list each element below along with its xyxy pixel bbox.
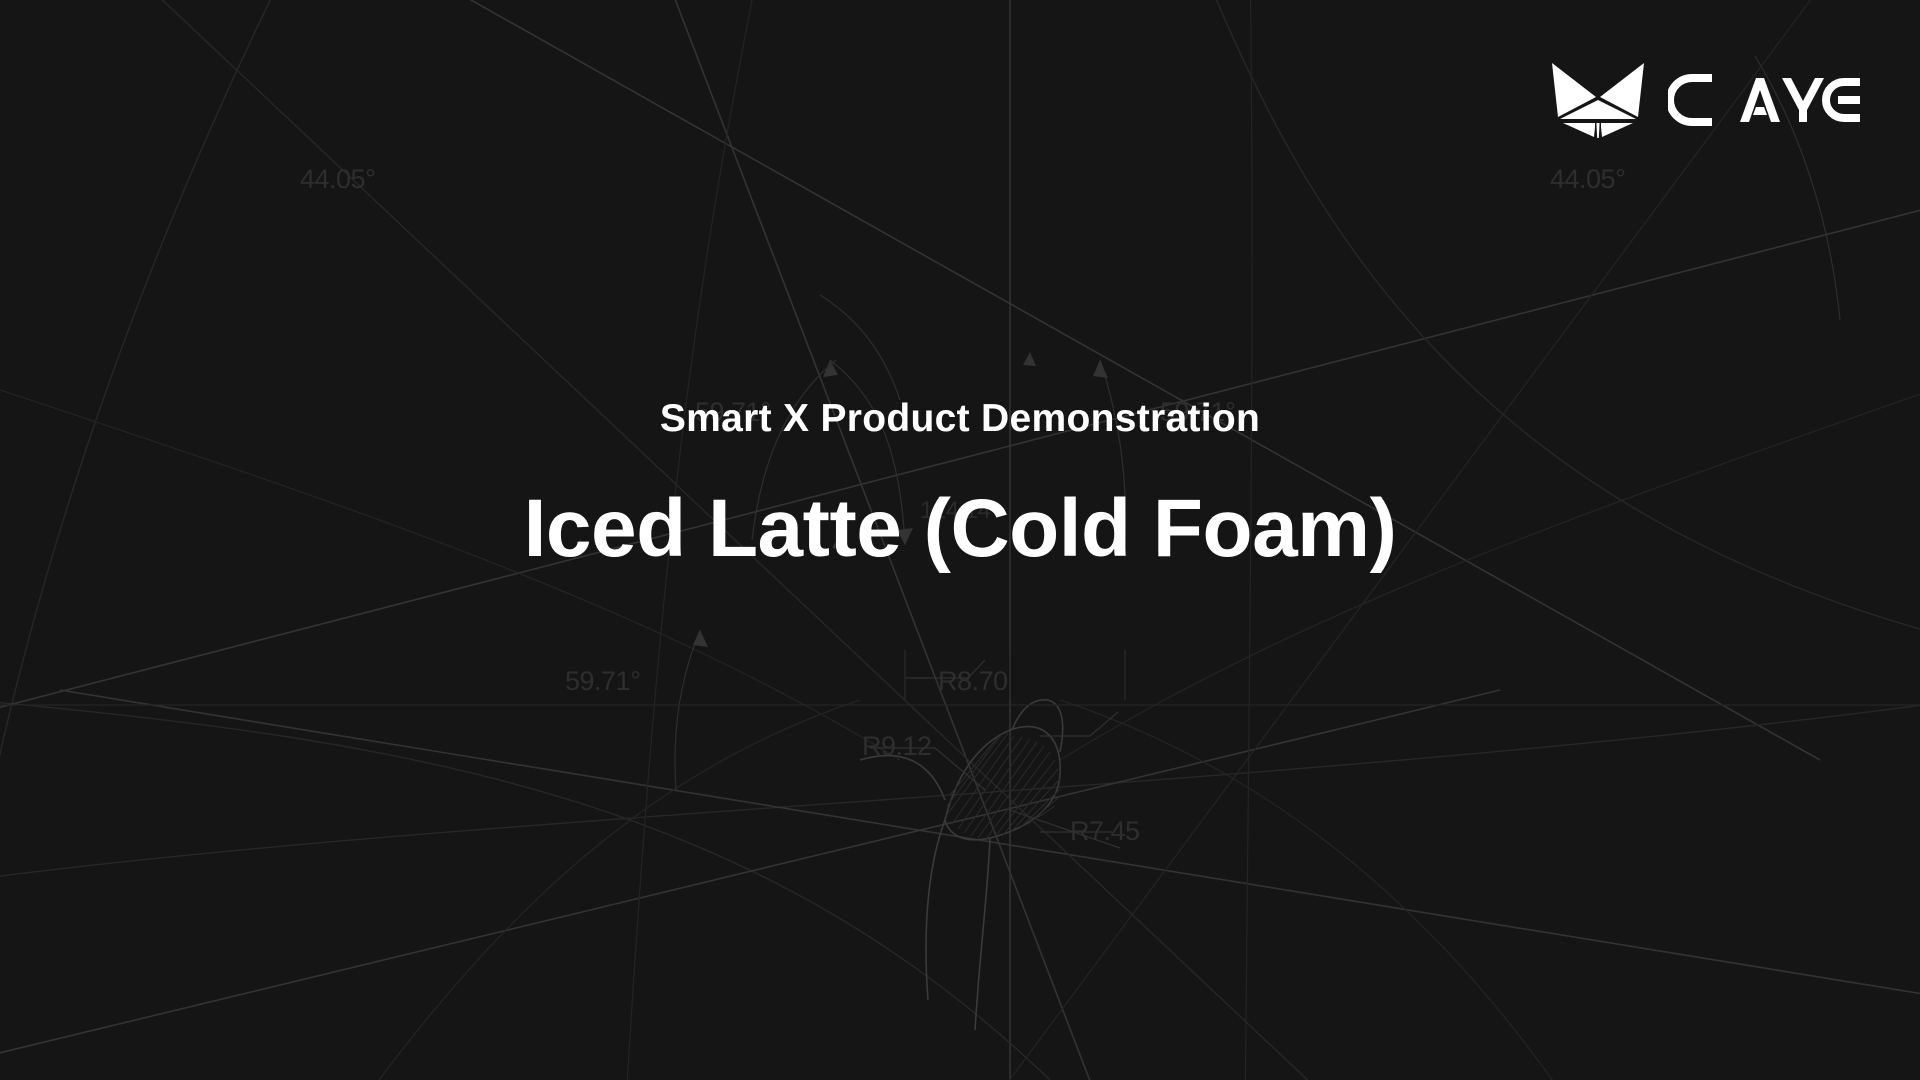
blueprint-annotation-angle-top-right: 44.05° (1550, 164, 1625, 194)
blueprint-annotation-radius-r8-70: R8.70 (938, 666, 1008, 696)
blueprint-leader-lines (0, 650, 1920, 848)
blueprint-annotation-angle-top-left: 44.05° (300, 164, 375, 194)
blueprint-annotation-radius-r9-12: R9.12 (862, 731, 932, 761)
presentation-slide: 44.05° 44.05° 59.71° 59.71° 124.14° 59.7… (0, 0, 1920, 1080)
slide-eyebrow: Smart X Product Demonstration (0, 398, 1920, 441)
slide-title: Iced Latte (Cold Foam) (0, 483, 1920, 575)
title-block: Smart X Product Demonstration Iced Latte… (0, 398, 1920, 575)
blueprint-hatched-profile (860, 700, 1063, 1030)
blueprint-annotation-angle-lower-left: 59.71° (565, 666, 640, 696)
brand-logo (1550, 58, 1864, 142)
caye-fox-head-mark-icon (1550, 61, 1646, 139)
blueprint-annotation-radius-r7-45: R7.45 (1070, 816, 1140, 846)
caye-wordmark (1668, 71, 1864, 129)
